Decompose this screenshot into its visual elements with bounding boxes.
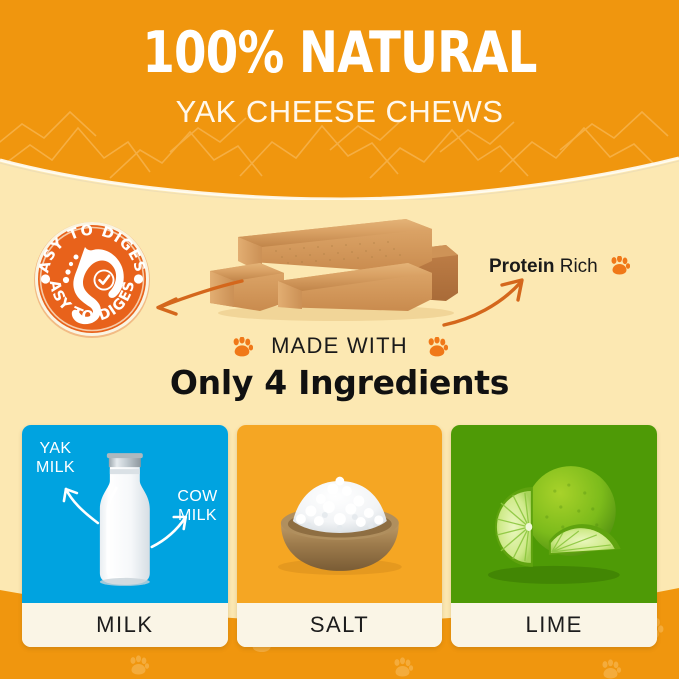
milk-card-image: YAK MILK COW MILK <box>22 425 228 603</box>
paw-print-icon-right <box>426 337 448 363</box>
ingredient-label-milk: MILK <box>22 603 228 647</box>
chew-bar-front <box>278 263 432 311</box>
protein-rich-callout: Protein Rich <box>489 256 630 281</box>
header-banner: 100% NATURAL YAK CHEESE CHEWS <box>0 0 679 200</box>
arrow-to-badge-icon <box>138 273 250 323</box>
yak-milk-caption: YAK MILK <box>36 439 75 477</box>
milk-bottle-icon <box>100 453 150 586</box>
lime-fruit-icon <box>495 466 621 567</box>
ingredient-label-lime: LIME <box>451 603 657 647</box>
made-with-label: MADE WITH <box>271 333 408 359</box>
ingredient-label-salt: SALT <box>237 603 443 647</box>
product-infographic: 100% NATURAL YAK CHEESE CHEWS EASY TO DI… <box>0 0 679 679</box>
paw-print-icon-left <box>231 337 253 363</box>
made-with-row: MADE WITH <box>0 333 679 363</box>
page-subtitle: YAK CHEESE CHEWS <box>0 84 679 130</box>
salt-card-image <box>237 425 443 603</box>
page-title: 100% NATURAL <box>61 0 618 84</box>
ingredient-card-milk[interactable]: YAK MILK COW MILK MILK <box>22 425 228 647</box>
cow-milk-caption: COW MILK <box>177 487 217 525</box>
ingredient-card-lime[interactable]: LIME <box>451 425 657 647</box>
ingredient-card-salt[interactable]: SALT <box>237 425 443 647</box>
yak-milk-arrow-icon <box>66 489 98 523</box>
protein-label-regular: Rich <box>560 256 598 277</box>
ingredient-cards: YAK MILK COW MILK MILK <box>22 425 657 647</box>
protein-label-bold: Protein <box>489 256 554 277</box>
easy-to-digest-badge: EASY TO DIGEST EASY TO DIGEST <box>30 217 154 341</box>
arrow-to-protein-icon <box>438 273 558 331</box>
salt-bowl-icon <box>278 477 402 575</box>
paw-print-icon <box>609 256 630 281</box>
ingredients-heading: Only 4 Ingredients <box>0 363 679 402</box>
feature-section: EASY TO DIGEST EASY TO DIGEST <box>0 195 679 425</box>
lime-card-image <box>451 425 657 603</box>
